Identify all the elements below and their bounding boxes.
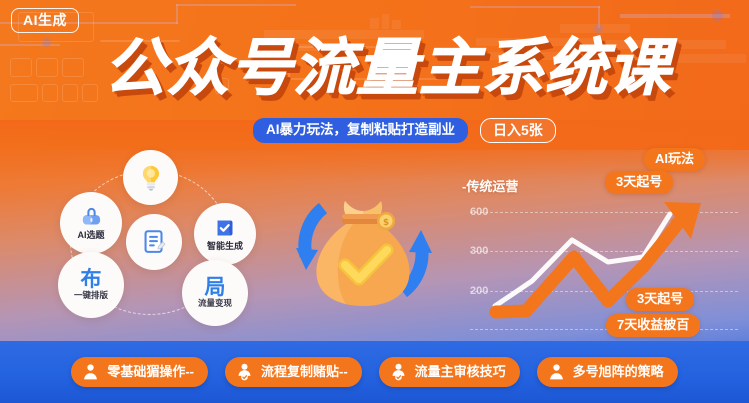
footer-feature-2-label: 流程复制赌贴-- [261, 364, 348, 380]
diagram-node-idea[interactable] [123, 150, 178, 205]
footer-feature-4-label: 多号旭阵的策略 [573, 364, 664, 380]
ai-generated-badge: AI生成 [11, 8, 79, 33]
chart-tag-ai-method: AI玩法 [644, 148, 705, 171]
footer-feature-2[interactable]: 流程复制赌贴-- [225, 357, 362, 387]
person-check-icon [235, 362, 254, 381]
subtitle-secondary-pill: 日入5张 [480, 118, 556, 143]
money-bag-icon: $ [316, 201, 409, 306]
diagram-node-generate-label: 智能生成 [207, 242, 243, 252]
footer-feature-1[interactable]: 零基础猸操作-- [71, 357, 208, 387]
page-title: 公众号流量主系统课 [104, 38, 671, 100]
poster-canvas: AI生成 公众号流量主系统课 AI暴力玩法，复制粘贴打造副业 日入5张 [0, 0, 749, 403]
document-pen-icon [139, 227, 169, 257]
chart-tag-3day-top: 3天起号 [605, 171, 673, 194]
diagram-node-layout-label: 一键排版 [74, 291, 108, 300]
footer-feature-3[interactable]: 流量主审核技巧 [379, 357, 520, 387]
footer-feature-3-label: 流量主审核技巧 [415, 364, 506, 380]
footer-feature-4[interactable]: 多号旭阵的策略 [537, 357, 678, 387]
diagram-node-layout[interactable]: 布 一键排版 [58, 252, 124, 318]
growth-chart: 600 300 200 -传统运营 AI玩法 3天起号 3天起号 7天收益披百 [448, 146, 749, 346]
svg-text:$: $ [383, 218, 389, 228]
diagram-node-monetize[interactable]: 局 流量变现 [182, 260, 248, 326]
person-check-icon [389, 362, 408, 381]
diagram-node-monetize-label: 流量变现 [198, 299, 232, 308]
diagram-node-document[interactable] [126, 214, 182, 270]
person-icon [81, 362, 100, 381]
lightbulb-icon [136, 163, 166, 193]
footer-feature-bar: 零基础猸操作-- 流程复制赌贴-- 流量主审核技巧 [0, 341, 749, 403]
workflow-diagram: AI选题 智能生成 布 一键排版 局 流量变现 [34, 148, 284, 333]
diagram-node-topic[interactable]: AI选题 [60, 192, 122, 254]
subtitle-row: AI暴力玩法，复制粘贴打造副业 日入5张 [253, 118, 556, 143]
footer-feature-1-label: 零基础猸操作-- [107, 364, 194, 380]
smart-check-icon [213, 216, 237, 240]
subtitle-primary-pill: AI暴力玩法，复制粘贴打造副业 [253, 118, 468, 143]
person-icon [547, 362, 566, 381]
diagram-node-generate[interactable]: 智能生成 [194, 203, 256, 265]
money-bag-illustration: $ [283, 178, 443, 323]
diagram-node-layout-glyph: 布 [81, 269, 102, 290]
ai-topic-icon [79, 205, 104, 230]
chart-tag-7day: 7天收益披百 [606, 314, 700, 337]
diagram-node-monetize-glyph: 局 [205, 277, 226, 298]
chart-tag-3day-bottom: 3天起号 [626, 288, 694, 311]
diagram-node-topic-label: AI选题 [77, 231, 104, 241]
